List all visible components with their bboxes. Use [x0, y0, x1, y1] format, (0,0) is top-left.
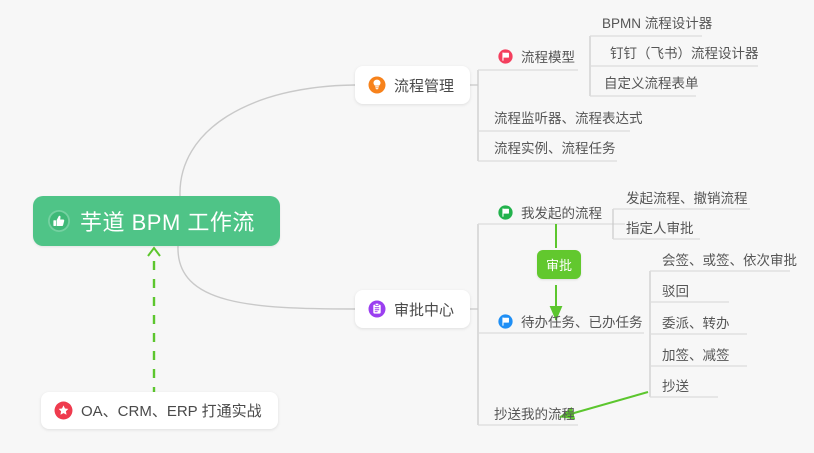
node-label-custom-process-form: 自定义流程表单	[604, 72, 699, 92]
node-label-process-instance-task: 流程实例、流程任务	[494, 137, 616, 157]
lightbulb-icon	[368, 76, 386, 94]
node-countersign-orsign-sequential[interactable]: 会签、或签、依次审批	[656, 245, 803, 273]
branch-node-approval-center[interactable]: 审批中心	[355, 290, 470, 328]
star-icon	[54, 401, 73, 420]
edge-root-to-approval-center	[178, 246, 355, 309]
node-label-bpmn-designer: BPMN 流程设计器	[602, 12, 712, 32]
node-custom-process-form[interactable]: 自定义流程表单	[598, 68, 705, 96]
node-designated-approver[interactable]: 指定人审批	[620, 213, 700, 241]
branch-label-approval-center: 审批中心	[394, 299, 454, 320]
node-delegate-transfer[interactable]: 委派、转办	[656, 308, 736, 336]
node-dingtalk-feishu-designer[interactable]: 钉钉（飞书）流程设计器	[604, 38, 765, 66]
flag-icon	[498, 49, 513, 64]
node-label-process-model: 流程模型	[521, 46, 575, 66]
node-add-remove-sign[interactable]: 加签、减签	[656, 340, 736, 368]
root-label: 芋道 BPM 工作流	[80, 205, 255, 237]
node-label-delegate-transfer: 委派、转办	[662, 312, 730, 332]
branch-label-process-management: 流程管理	[394, 75, 454, 96]
node-label-cc-to-me-process: 抄送我的流程	[494, 403, 575, 423]
node-carbon-copy[interactable]: 抄送	[656, 371, 695, 399]
node-label-start-cancel-process: 发起流程、撤销流程	[626, 187, 748, 207]
clipboard-icon	[368, 300, 386, 318]
thumbs-up-icon	[47, 209, 71, 233]
node-cc-to-me-process[interactable]: 抄送我的流程	[488, 399, 581, 427]
edge-root-to-process-management	[180, 85, 355, 196]
flag-icon	[498, 314, 513, 329]
node-label-carbon-copy: 抄送	[662, 375, 689, 395]
node-start-cancel-process[interactable]: 发起流程、撤销流程	[620, 183, 754, 211]
tag-approval[interactable]: 审批	[537, 250, 581, 279]
node-label-process-listener-expression: 流程监听器、流程表达式	[494, 107, 643, 127]
node-label-reject: 驳回	[662, 280, 689, 300]
node-process-model[interactable]: 流程模型	[492, 42, 581, 70]
node-label-dingtalk-feishu-designer: 钉钉（飞书）流程设计器	[610, 42, 759, 62]
node-my-initiated-process[interactable]: 我发起的流程	[492, 198, 608, 226]
annotation-integration-arrowhead	[148, 248, 160, 256]
node-process-instance-task[interactable]: 流程实例、流程任务	[488, 133, 622, 161]
node-todo-done-tasks[interactable]: 待办任务、已办任务	[492, 307, 649, 335]
node-label-my-initiated-process: 我发起的流程	[521, 202, 602, 222]
node-label-countersign-orsign-sequential: 会签、或签、依次审批	[662, 249, 797, 269]
node-reject[interactable]: 驳回	[656, 276, 695, 304]
branch-node-process-management[interactable]: 流程管理	[355, 66, 470, 104]
node-label-todo-done-tasks: 待办任务、已办任务	[521, 311, 643, 331]
node-label-designated-approver: 指定人审批	[626, 217, 694, 237]
mindmap-canvas: 芋道 BPM 工作流 流程管理 流程模型 BPMN 流程设计器 钉钉（飞书）流程…	[0, 0, 814, 453]
root-node[interactable]: 芋道 BPM 工作流	[33, 196, 280, 246]
node-label-add-remove-sign: 加签、减签	[662, 344, 730, 364]
node-bpmn-designer[interactable]: BPMN 流程设计器	[596, 8, 718, 36]
tag-approval-label: 审批	[546, 255, 572, 274]
footnote-node-oa-crm-erp[interactable]: OA、CRM、ERP 打通实战	[41, 392, 278, 429]
node-process-listener-expression[interactable]: 流程监听器、流程表达式	[488, 103, 649, 131]
footnote-label-oa-crm-erp: OA、CRM、ERP 打通实战	[81, 400, 262, 421]
flag-icon	[498, 205, 513, 220]
